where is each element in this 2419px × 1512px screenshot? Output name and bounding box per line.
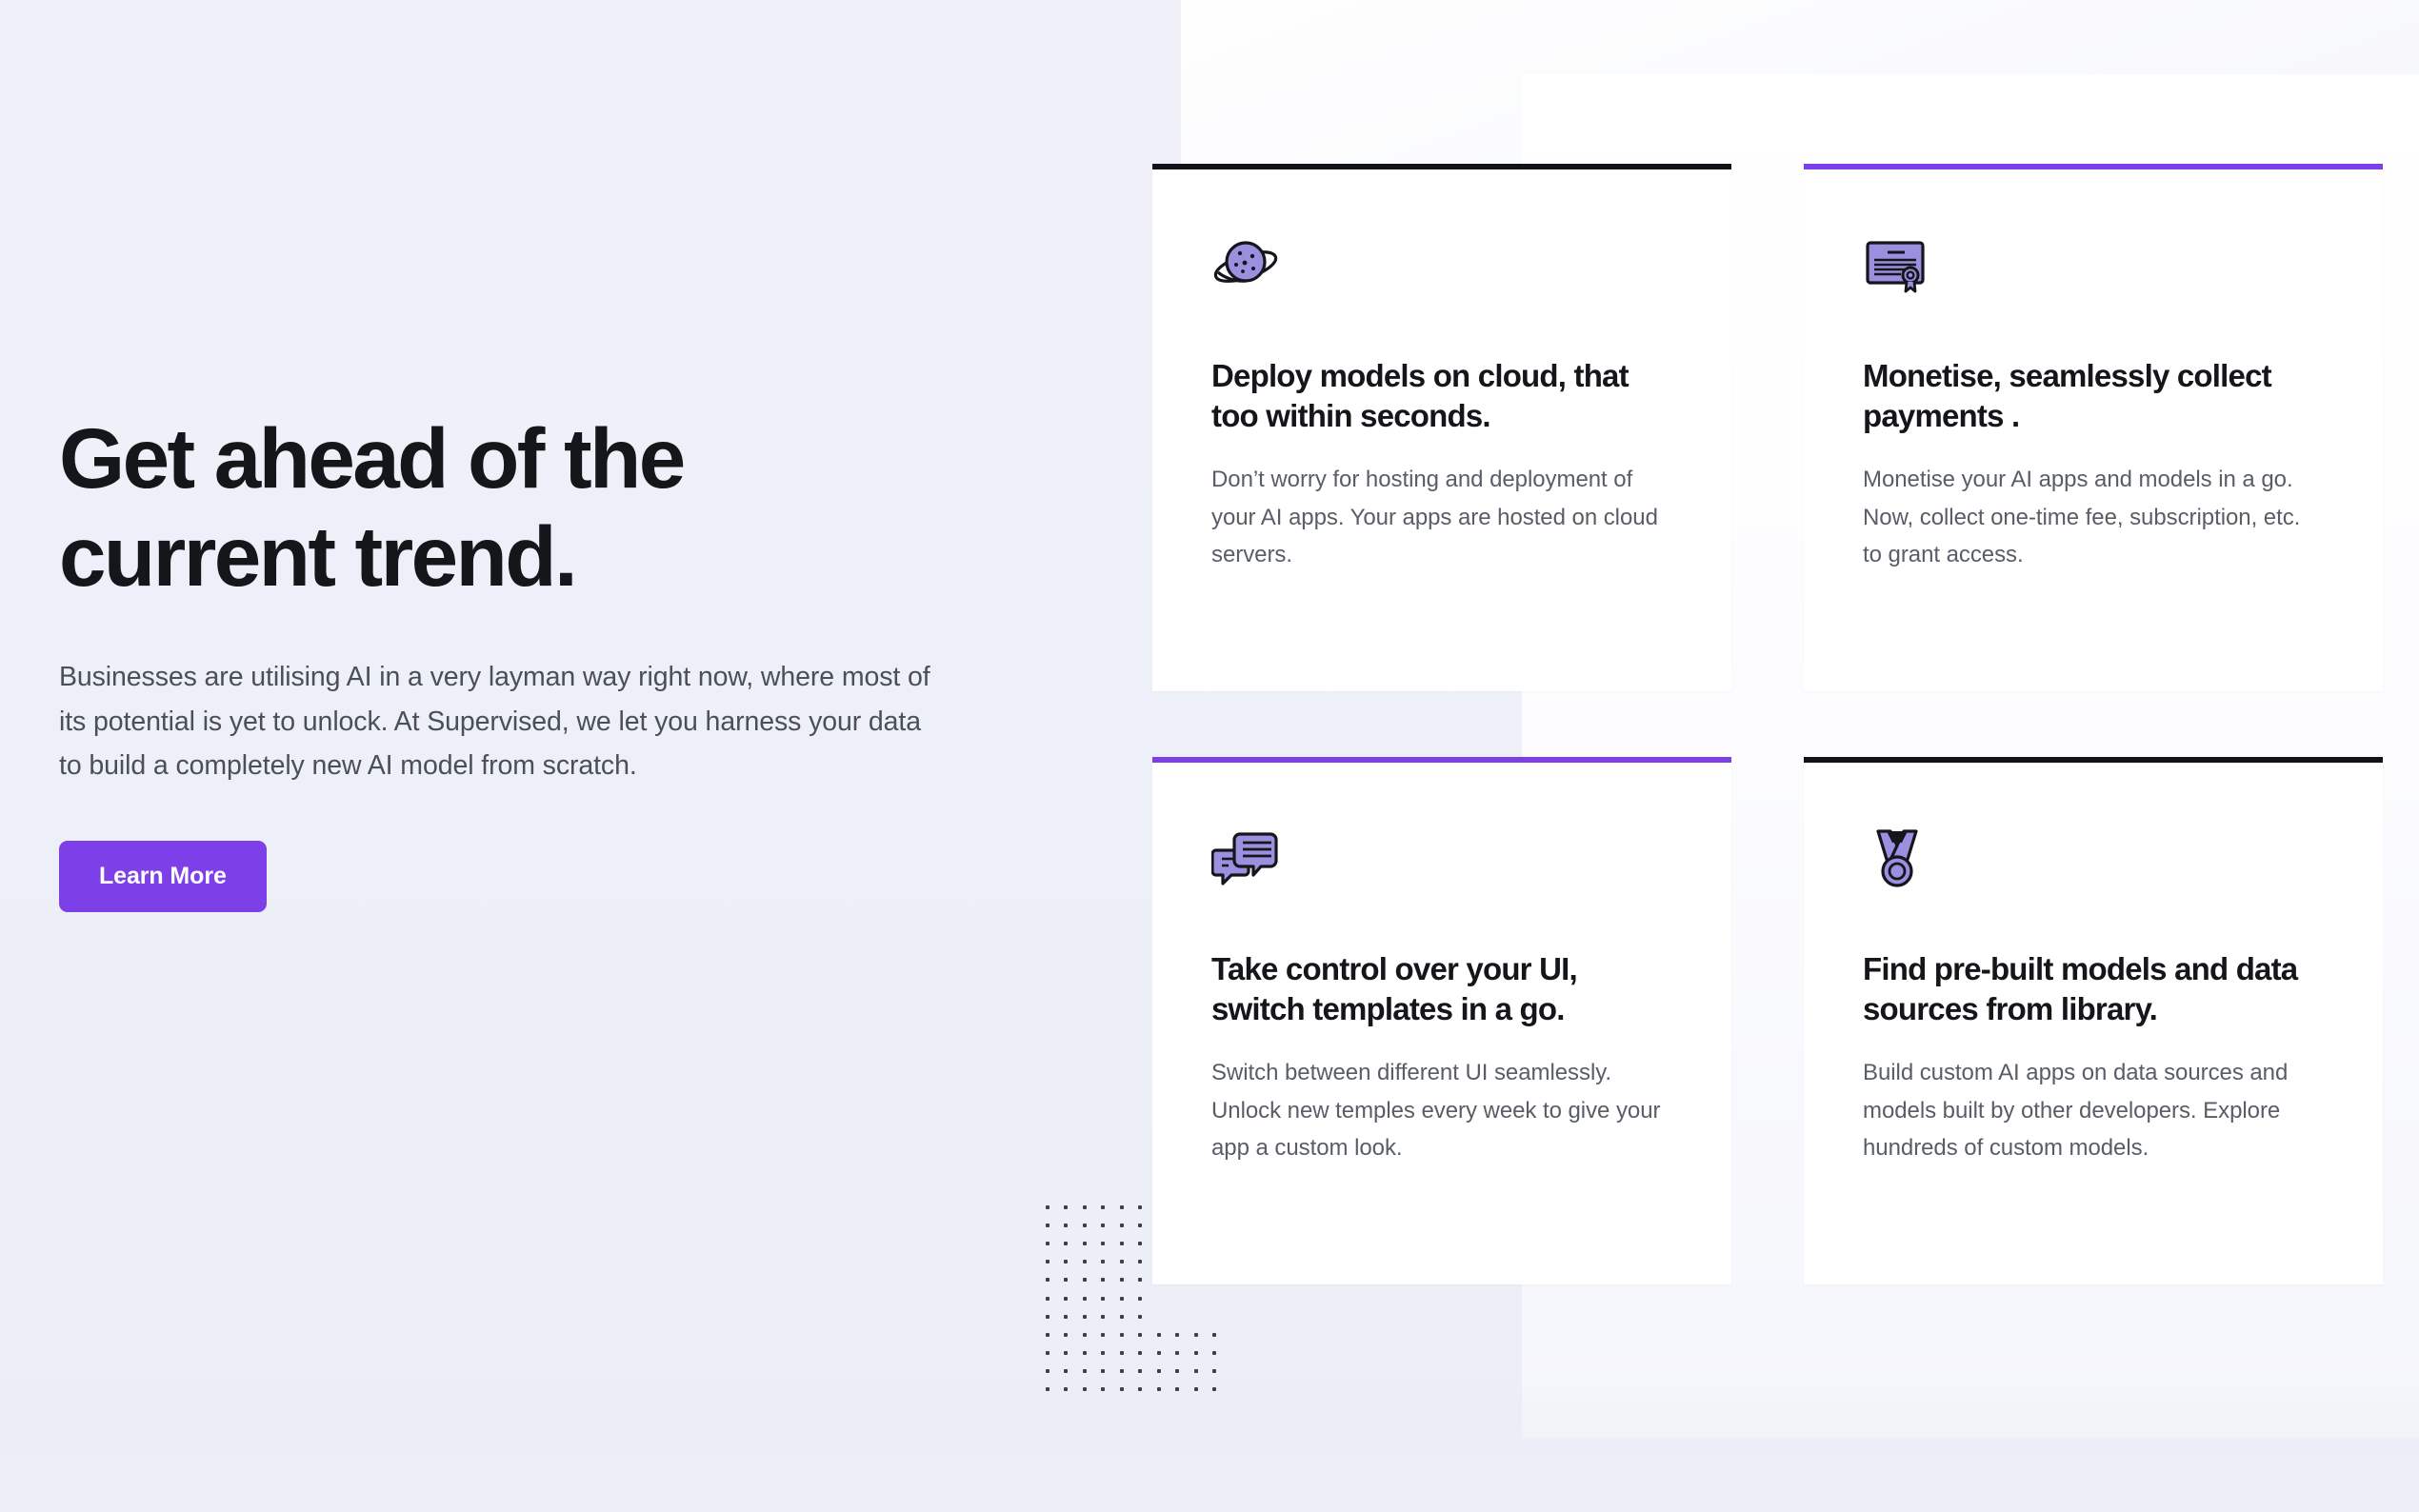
grid-dot [1046, 1297, 1050, 1301]
grid-dot [1083, 1315, 1087, 1319]
grid-dot [1101, 1242, 1105, 1245]
grid-dot [1175, 1369, 1179, 1373]
grid-dot [1064, 1351, 1068, 1355]
grid-dot [1175, 1351, 1179, 1355]
grid-dot [1120, 1260, 1124, 1263]
grid-dot [1064, 1278, 1068, 1282]
feature-card-description: Don’t worry for hosting and deployment o… [1211, 461, 1669, 572]
grid-dot [1046, 1315, 1050, 1319]
grid-dot [1064, 1224, 1068, 1227]
grid-dot [1083, 1224, 1087, 1227]
grid-dot [1120, 1205, 1124, 1209]
grid-dot [1083, 1297, 1087, 1301]
grid-dot [1046, 1224, 1050, 1227]
chat-bubbles-icon [1211, 824, 1280, 892]
grid-dot [1138, 1351, 1142, 1355]
grid-dot [1138, 1315, 1142, 1319]
grid-dot [1157, 1369, 1161, 1373]
grid-dot [1064, 1369, 1068, 1373]
grid-dot [1046, 1260, 1050, 1263]
feature-cards-grid: Deploy models on cloud, that too within … [1152, 169, 2383, 1284]
ringed-planet-icon [1211, 230, 1280, 299]
feature-card-description: Switch between different UI seamlessly. … [1211, 1054, 1669, 1165]
grid-dot [1175, 1387, 1179, 1391]
grid-dot [1083, 1333, 1087, 1337]
grid-dot [1064, 1333, 1068, 1337]
medal-icon [1863, 824, 1931, 892]
feature-card-description: Build custom AI apps on data sources and… [1863, 1054, 2320, 1165]
grid-dot [1138, 1387, 1142, 1391]
grid-dot [1101, 1278, 1105, 1282]
grid-dot [1138, 1242, 1142, 1245]
grid-dot [1138, 1369, 1142, 1373]
feature-card[interactable]: Deploy models on cloud, that too within … [1152, 169, 1731, 691]
grid-dot [1064, 1387, 1068, 1391]
grid-dot [1120, 1351, 1124, 1355]
grid-dot [1046, 1351, 1050, 1355]
grid-dot [1046, 1278, 1050, 1282]
grid-dot [1064, 1297, 1068, 1301]
grid-dot [1046, 1205, 1050, 1209]
grid-dot [1101, 1387, 1105, 1391]
grid-dot [1083, 1242, 1087, 1245]
hero-section: Get ahead of the current trend. Business… [59, 409, 1021, 912]
grid-dot [1101, 1205, 1105, 1209]
grid-dot [1138, 1297, 1142, 1301]
grid-dot [1120, 1387, 1124, 1391]
grid-dot [1101, 1297, 1105, 1301]
grid-dot [1157, 1333, 1161, 1337]
grid-dot [1212, 1387, 1216, 1391]
grid-dot [1175, 1333, 1179, 1337]
feature-card-title: Monetise, seamlessly collect payments . [1863, 356, 2320, 436]
grid-dot [1120, 1369, 1124, 1373]
grid-dot [1120, 1278, 1124, 1282]
certificate-icon [1863, 230, 1931, 299]
feature-card-title: Take control over your UI, switch templa… [1211, 949, 1669, 1029]
grid-dot [1138, 1260, 1142, 1263]
grid-dot [1120, 1297, 1124, 1301]
grid-dot [1157, 1351, 1161, 1355]
grid-dot [1194, 1369, 1198, 1373]
grid-dot [1212, 1333, 1216, 1337]
grid-dot [1101, 1333, 1105, 1337]
grid-dot [1101, 1315, 1105, 1319]
grid-dot [1064, 1260, 1068, 1263]
grid-dot [1046, 1369, 1050, 1373]
grid-dot [1046, 1242, 1050, 1245]
learn-more-button[interactable]: Learn More [59, 841, 267, 912]
grid-dot [1083, 1369, 1087, 1373]
grid-dot [1083, 1260, 1087, 1263]
grid-dot [1157, 1387, 1161, 1391]
grid-dot [1046, 1333, 1050, 1337]
grid-dot [1101, 1224, 1105, 1227]
grid-dot [1083, 1351, 1087, 1355]
grid-dot [1194, 1387, 1198, 1391]
grid-dot [1138, 1205, 1142, 1209]
grid-dot [1212, 1351, 1216, 1355]
grid-dot [1212, 1369, 1216, 1373]
grid-dot [1083, 1278, 1087, 1282]
grid-dot [1064, 1242, 1068, 1245]
grid-dot [1138, 1278, 1142, 1282]
hero-description: Businesses are utilising AI in a very la… [59, 655, 935, 786]
feature-card-title: Deploy models on cloud, that too within … [1211, 356, 1669, 436]
grid-dot [1101, 1260, 1105, 1263]
grid-dot [1064, 1315, 1068, 1319]
feature-card-title: Find pre-built models and data sources f… [1863, 949, 2320, 1029]
page-title: Get ahead of the current trend. [59, 409, 935, 606]
grid-dot [1194, 1351, 1198, 1355]
feature-card[interactable]: Take control over your UI, switch templa… [1152, 763, 1731, 1284]
grid-dot [1046, 1387, 1050, 1391]
grid-dot [1101, 1369, 1105, 1373]
grid-dot [1064, 1205, 1068, 1209]
grid-dot [1120, 1224, 1124, 1227]
grid-dot [1101, 1351, 1105, 1355]
grid-dot [1120, 1242, 1124, 1245]
grid-dot [1194, 1333, 1198, 1337]
grid-dot [1083, 1387, 1087, 1391]
feature-card[interactable]: Find pre-built models and data sources f… [1804, 763, 2383, 1284]
feature-card[interactable]: Monetise, seamlessly collect payments .M… [1804, 169, 2383, 691]
grid-dot [1120, 1333, 1124, 1337]
grid-dot [1120, 1315, 1124, 1319]
grid-dot [1138, 1333, 1142, 1337]
grid-dot [1138, 1224, 1142, 1227]
grid-dot [1083, 1205, 1087, 1209]
feature-card-description: Monetise your AI apps and models in a go… [1863, 461, 2320, 572]
